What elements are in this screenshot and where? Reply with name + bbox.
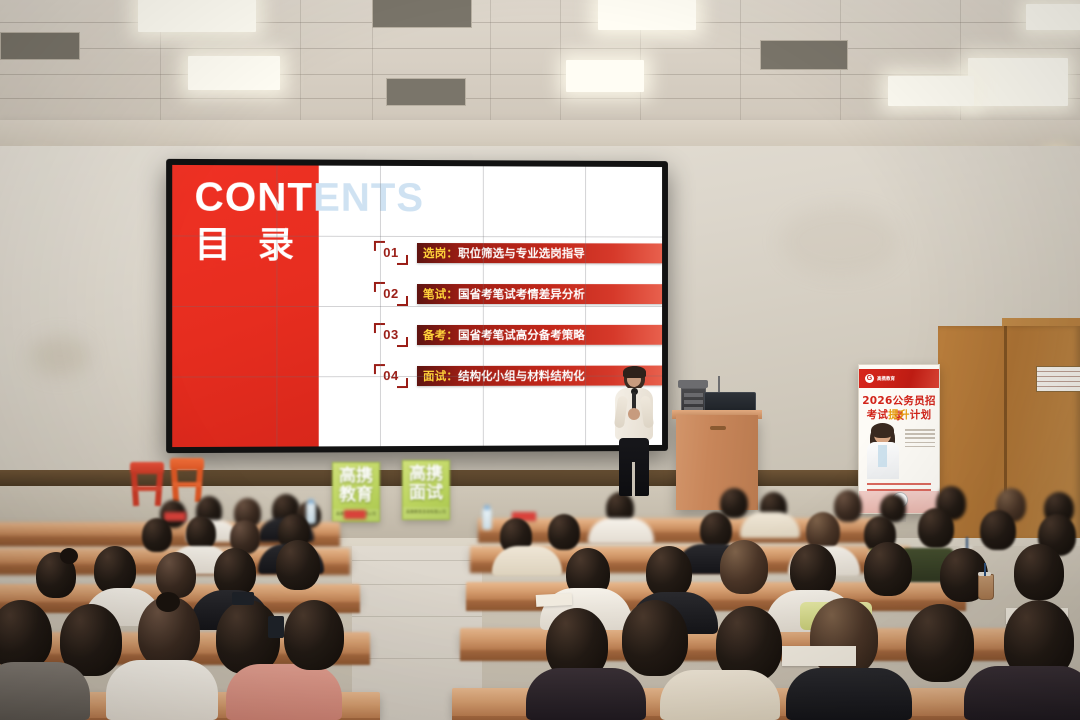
floor-sign-line2: 教育	[333, 487, 379, 504]
toc-bar: 笔试：国省考笔试考情差异分析	[417, 283, 662, 303]
student-body	[786, 668, 912, 720]
student-head	[790, 544, 836, 596]
hair-bun	[60, 548, 78, 564]
handout-paper	[536, 593, 573, 607]
smartphone[interactable]	[268, 616, 284, 638]
toc-text: 国省考笔试考情差异分析	[458, 286, 585, 302]
student-body	[492, 546, 562, 576]
ceiling-panel-light	[968, 58, 1068, 106]
hvac-vent	[760, 40, 848, 70]
student-head	[186, 516, 216, 550]
ceiling-panel-light	[598, 0, 696, 30]
student-head	[980, 510, 1016, 550]
smartphone[interactable]	[232, 592, 254, 605]
equipment-rack-top	[678, 380, 708, 388]
plastic-stool	[130, 462, 164, 506]
floor-sign-line2: 面试	[403, 485, 449, 502]
slide-heading-part2: ENTS	[313, 176, 424, 220]
red-card	[164, 512, 186, 521]
hvac-vent	[372, 0, 472, 28]
student-body	[0, 662, 90, 720]
student-body	[964, 666, 1080, 720]
toc-bar: 备考：国省考笔试高分备考策略	[417, 324, 662, 344]
led-video-wall[interactable]: CONTENTS 目 录 01 选岗：职位筛选与专业选岗指导	[166, 159, 668, 453]
student-body	[660, 670, 780, 720]
ceiling-panel-light	[1026, 4, 1080, 30]
toc-number: 02	[383, 286, 398, 301]
toc-key: 备考：	[423, 326, 458, 342]
presenter-hands	[628, 408, 640, 420]
student-head	[94, 546, 136, 594]
toc-text: 国省考笔试高分备考策略	[458, 326, 585, 342]
floor-sign: 高携 面试 高携教育咨询有限公司	[402, 460, 450, 520]
presenter	[612, 366, 656, 498]
toc-key: 笔试：	[423, 286, 458, 302]
brand-logo-icon: G	[865, 374, 874, 383]
toc-text: 职位筛选与专业选岗指导	[458, 245, 585, 261]
student-head	[906, 604, 974, 682]
student-head	[646, 546, 692, 598]
toc-item: 03 备考：国省考笔试高分备考策略	[374, 314, 662, 355]
student-head	[1014, 544, 1064, 600]
student-head	[720, 488, 748, 518]
student-head	[284, 600, 344, 670]
banner-title-part-b: 提升	[888, 409, 910, 421]
banner-title-line2: 考试提升计划	[859, 407, 939, 422]
hvac-vent	[386, 78, 466, 106]
rollup-banner: G 高携教育 2026公务员招录 考试提升计划	[858, 364, 940, 514]
podium-handle[interactable]	[710, 426, 726, 430]
floor-sign-line1: 高携	[333, 468, 379, 485]
toc-key: 选岗：	[423, 245, 458, 261]
presenter-hair	[623, 366, 646, 378]
student-head	[214, 548, 256, 596]
plastic-stool	[170, 458, 204, 502]
banner-brand-name: 高携教育	[877, 376, 895, 381]
student-body	[526, 668, 646, 720]
student-head	[548, 514, 580, 550]
floor-sign-line1: 高携	[403, 466, 449, 483]
student-body	[106, 660, 218, 720]
drink-cup	[978, 574, 994, 600]
student-head	[864, 542, 912, 596]
ceiling-panel-light	[138, 0, 256, 32]
toc-item: 02 笔试：国省考笔试考情差异分析	[374, 273, 662, 314]
student-head	[834, 490, 862, 522]
banner-photo	[866, 425, 900, 479]
toc-number: 03	[383, 327, 398, 342]
lecture-hall-screenshot: CONTENTS 目 录 01 选岗：职位筛选与专业选岗指导	[0, 0, 1080, 720]
toc-number: 01	[383, 245, 398, 260]
student-head	[156, 552, 196, 598]
banner-title-part-a: 考试	[867, 409, 889, 421]
water-bottle	[306, 502, 316, 524]
student-body	[740, 512, 800, 538]
banner-title-part-c: 计划	[910, 409, 932, 421]
door-notice-sign	[1036, 366, 1080, 392]
student-head	[142, 518, 172, 552]
slide-heading-chinese: 目 录	[195, 227, 302, 263]
ceiling-panel-light	[188, 56, 280, 90]
student-head	[700, 512, 732, 548]
red-card	[344, 510, 366, 519]
student-head	[276, 540, 320, 590]
student-body	[226, 664, 342, 720]
student-body	[588, 518, 654, 544]
student-head	[720, 540, 768, 594]
display-screen: CONTENTS 目 录 01 选岗：职位筛选与专业选岗指导	[172, 165, 662, 447]
hvac-vent	[0, 32, 80, 60]
student-head	[622, 600, 688, 676]
slide-heading-part1: CONT	[195, 175, 313, 220]
student-head	[918, 508, 954, 548]
ceiling-panel-light	[566, 60, 644, 92]
ceiling-panel-light	[888, 76, 974, 106]
banner-logo-bar: G 高携教育	[859, 369, 940, 388]
floor-sign-footer: 高携教育咨询有限公司	[403, 507, 449, 515]
hair-bun	[156, 592, 180, 612]
slide-heading-english: CONTENTS	[195, 177, 424, 218]
toc-bar: 选岗：职位筛选与专业选岗指导	[417, 242, 662, 262]
water-bottle	[482, 508, 492, 530]
banner-sidetext	[905, 429, 935, 450]
toc-item: 01 选岗：职位筛选与专业选岗指导	[374, 232, 662, 273]
handout-paper	[782, 646, 856, 666]
